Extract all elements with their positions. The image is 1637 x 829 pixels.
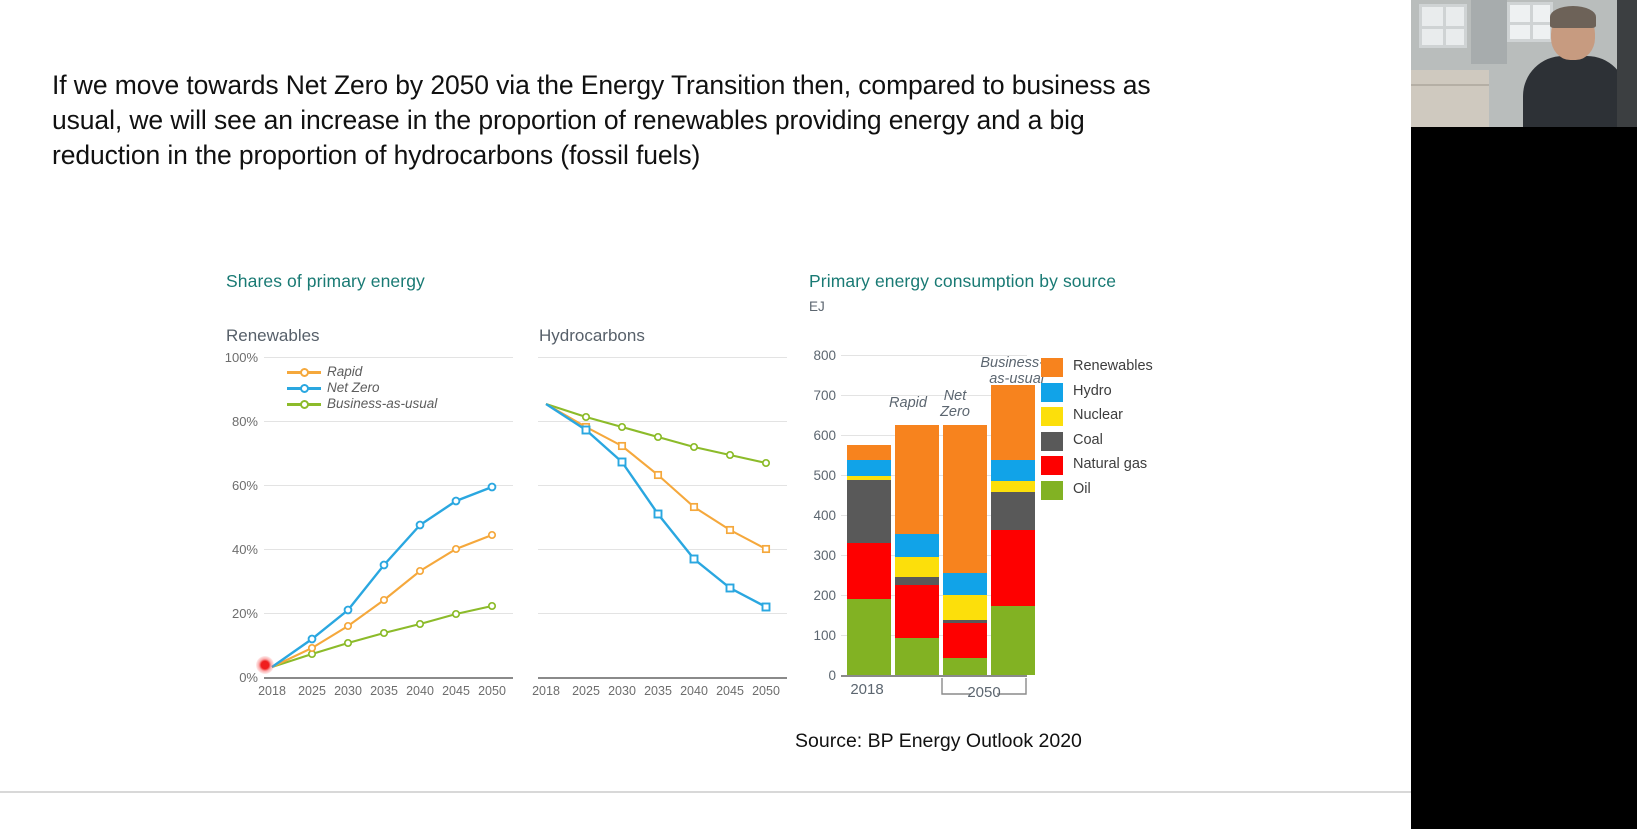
legend-label-natural-gas: Natural gas xyxy=(1073,456,1147,472)
figure-container: Shares of primary energy Renewables Hydr… xyxy=(0,0,1411,791)
legend-marker-business-as-usual xyxy=(300,400,309,409)
bar-business-as-usual[interactable] xyxy=(991,385,1035,675)
series-line-net-zero xyxy=(272,487,492,667)
legend-label-hydro: Hydro xyxy=(1073,383,1112,399)
bar-segment-natural-gas xyxy=(895,585,939,638)
webcam-tile[interactable] xyxy=(1411,0,1637,127)
bc-ytick-300: 300 xyxy=(798,548,836,563)
window-mullion-horizontal xyxy=(1510,22,1550,25)
legend-label-business-as-usual: Business-as-usual xyxy=(327,396,437,411)
webcam-person-hair xyxy=(1550,6,1596,28)
webcam-person-body xyxy=(1523,56,1627,127)
right-figure-unit: EJ xyxy=(809,299,825,314)
bar-segment-oil xyxy=(991,606,1035,675)
subpanel-title-renewables: Renewables xyxy=(226,326,320,346)
bc-ytick-200: 200 xyxy=(798,588,836,603)
slide-footer-area xyxy=(0,793,1411,829)
bar-segment-nuclear xyxy=(943,595,987,620)
slide-canvas: If we move towards Net Zero by 2050 via … xyxy=(0,0,1411,791)
legend-swatch-nuclear xyxy=(1041,407,1063,426)
bar-segment-nuclear xyxy=(991,481,1035,492)
video-sidebar xyxy=(1411,0,1637,829)
legend-marker-net-zero xyxy=(300,384,309,393)
legend-label-coal: Coal xyxy=(1073,432,1103,448)
legend-swatch-hydro xyxy=(1041,383,1063,402)
legend-label-nuclear: Nuclear xyxy=(1073,407,1123,423)
bar-label-net-zero: NetZero xyxy=(930,388,980,420)
bc-ytick-0: 0 xyxy=(798,668,836,683)
bar-segment-renewables xyxy=(991,385,1035,460)
bar-segment-natural-gas xyxy=(847,543,891,599)
bar-label-rapid: Rapid xyxy=(878,395,938,411)
legend-label-rapid: Rapid xyxy=(327,364,362,379)
bar-segment-nuclear xyxy=(895,557,939,576)
bar-segment-hydro xyxy=(847,460,891,476)
ytick-40: 40% xyxy=(196,542,258,557)
bar-segment-renewables xyxy=(895,425,939,534)
window-mullion-horizontal xyxy=(1422,26,1464,29)
bar-segment-oil xyxy=(895,638,939,675)
bc-xtick-2018: 2018 xyxy=(845,681,889,698)
ytick-100: 100% xyxy=(196,350,258,365)
ytick-80: 80% xyxy=(196,414,258,429)
bar-segment-nuclear xyxy=(847,476,891,480)
subpanel-title-hydrocarbons: Hydrocarbons xyxy=(539,326,645,346)
bar-segment-hydro xyxy=(943,573,987,595)
bar-segment-natural-gas xyxy=(991,530,1035,606)
legend-swatch-oil xyxy=(1041,481,1063,500)
series-markers-net-zero xyxy=(583,427,770,611)
legend-label-oil: Oil xyxy=(1073,481,1091,497)
right-figure-title: Primary energy consumption by source xyxy=(809,271,1116,292)
xtick-hydrocarbons-2050: 2050 xyxy=(744,684,788,698)
webcam-window-right xyxy=(1507,2,1553,42)
ytick-60: 60% xyxy=(196,478,258,493)
legend-marker-rapid xyxy=(300,368,309,377)
source-caption: Source: BP Energy Outlook 2020 xyxy=(795,730,1082,753)
bar-segment-hydro xyxy=(895,534,939,557)
legend-swatch-coal xyxy=(1041,432,1063,451)
bc-ytick-500: 500 xyxy=(798,468,836,483)
bar-segment-natural-gas xyxy=(943,623,987,657)
bc-ytick-400: 400 xyxy=(798,508,836,523)
cursor-click-indicator xyxy=(256,656,274,674)
bc-ytick-800: 800 xyxy=(798,348,836,363)
legend-swatch-renewables xyxy=(1041,358,1063,377)
xtick-renewables-2018: 2018 xyxy=(250,684,294,698)
bar-segment-hydro xyxy=(991,460,1035,481)
bar-segment-oil xyxy=(847,599,891,675)
xtick-renewables-2050: 2050 xyxy=(470,684,514,698)
legend-swatch-natural-gas xyxy=(1041,456,1063,475)
bar-label-business-as-usual: Business-as-usual xyxy=(962,355,1044,387)
bar-segment-renewables xyxy=(943,425,987,573)
xtick-hydrocarbons-2018: 2018 xyxy=(524,684,568,698)
ytick-0: 0% xyxy=(196,670,258,685)
bar-segment-oil xyxy=(943,658,987,675)
bar-rapid[interactable] xyxy=(895,425,939,675)
bar-segment-coal xyxy=(943,620,987,623)
bar-segment-coal xyxy=(895,577,939,586)
bc-ytick-700: 700 xyxy=(798,388,836,403)
webcam-cabinet xyxy=(1411,70,1489,127)
bc-ytick-100: 100 xyxy=(798,628,836,643)
ytick-20: 20% xyxy=(196,606,258,621)
bar-segment-renewables xyxy=(847,445,891,460)
bar-segment-coal xyxy=(991,492,1035,530)
bc-xtick-2050: 2050 xyxy=(962,684,1006,701)
webcam-wall-strip xyxy=(1471,0,1507,64)
bc-ytick-600: 600 xyxy=(798,428,836,443)
bar-net-zero[interactable] xyxy=(943,425,987,675)
bar-segment-coal xyxy=(847,480,891,543)
legend-label-renewables: Renewables xyxy=(1073,358,1153,374)
webcam-window-left xyxy=(1419,4,1467,48)
legend-label-net-zero: Net Zero xyxy=(327,380,380,395)
bar-2018[interactable] xyxy=(847,445,891,675)
webcam-right-edge xyxy=(1617,0,1637,127)
cabinet-edge xyxy=(1411,84,1489,86)
left-figure-title: Shares of primary energy xyxy=(226,271,425,292)
hydrocarbons-line-plot xyxy=(538,351,790,681)
